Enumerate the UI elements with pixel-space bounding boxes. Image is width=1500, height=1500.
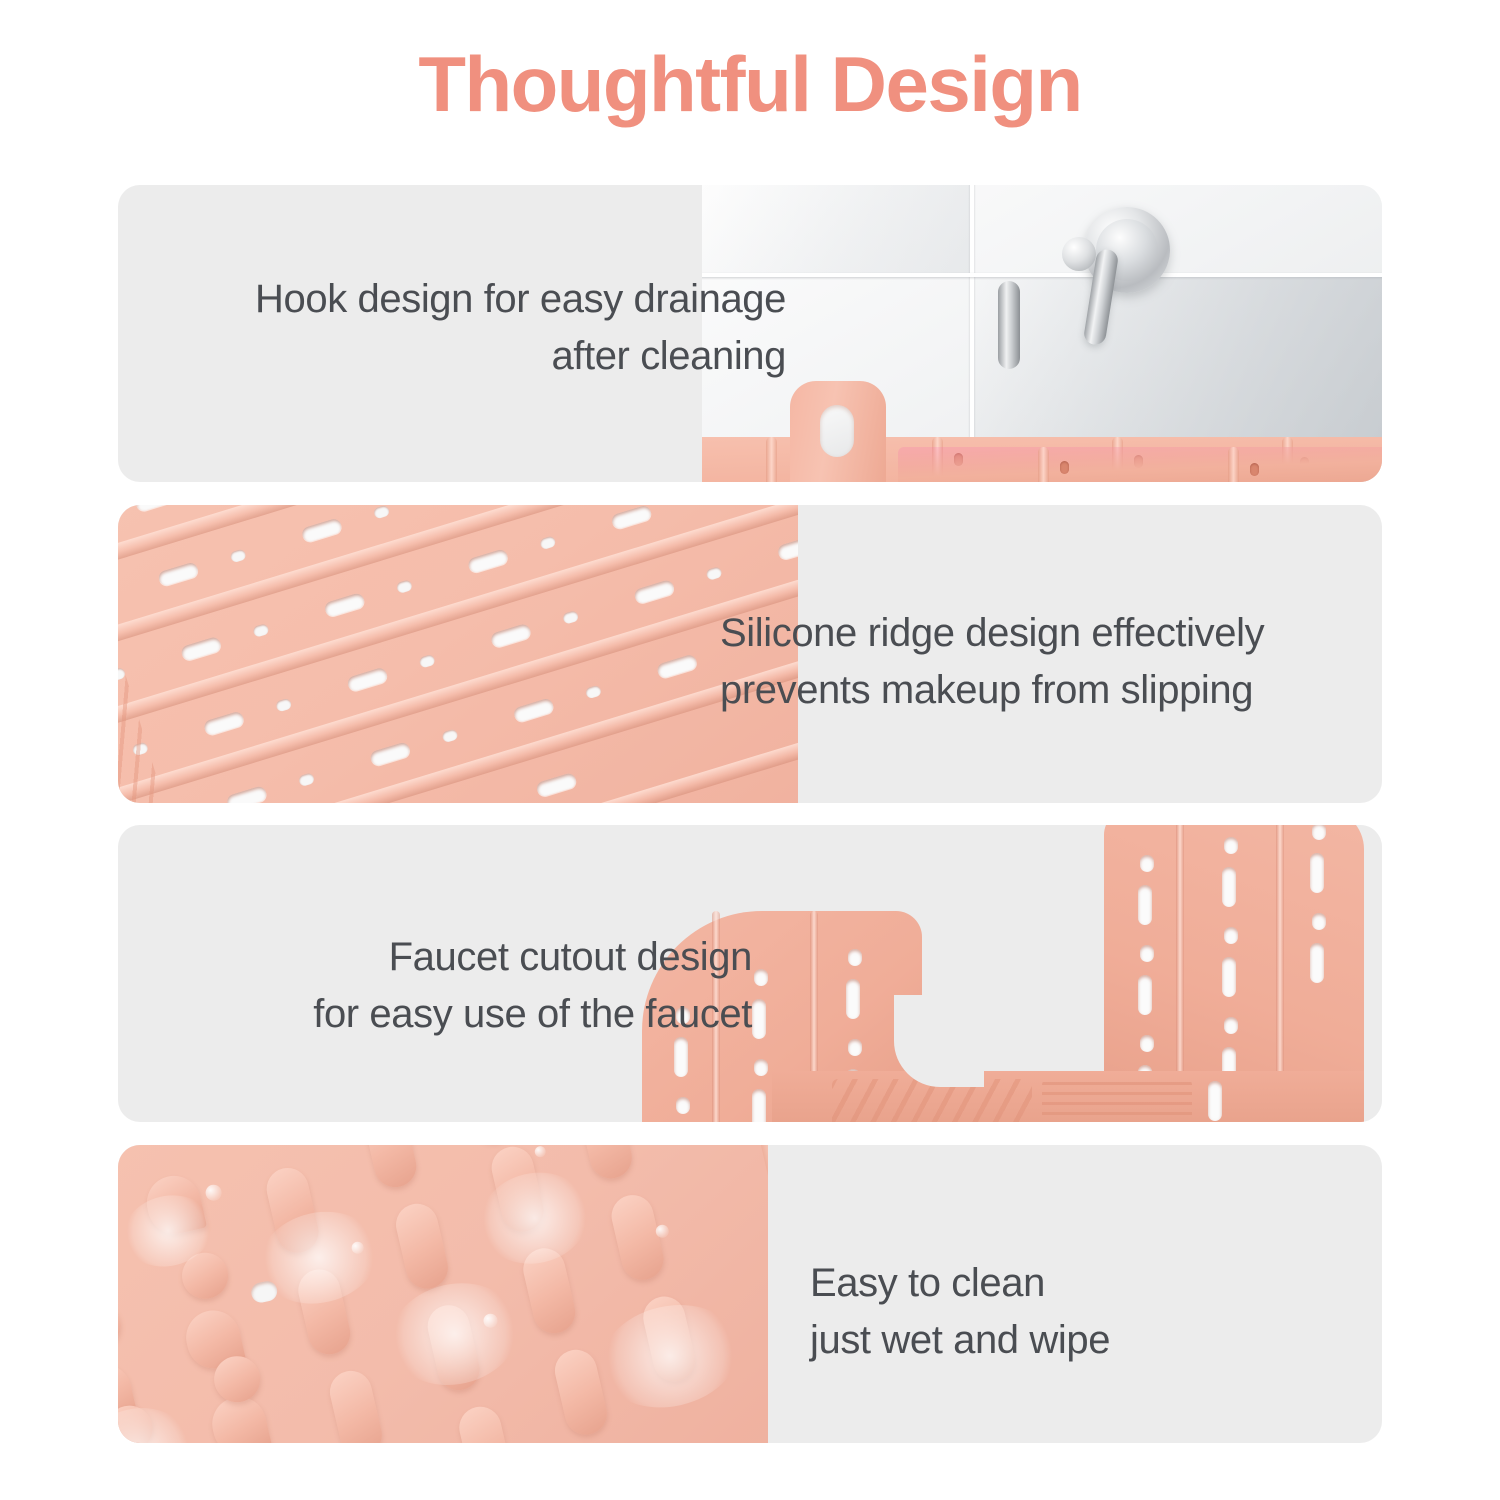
panel-caption-easy-clean: Easy to clean just wet and wipe xyxy=(810,1255,1230,1369)
mat-bottom-bar xyxy=(772,1071,1364,1122)
feature-panel-silicone-ridge: Silicone ridge design effectively preven… xyxy=(118,505,1382,803)
product-photo-silicone-ridge xyxy=(118,505,798,803)
mat-raised-rail xyxy=(719,1145,768,1443)
wall-hook-tip xyxy=(998,281,1020,369)
feature-panel-easy-clean: Easy to clean just wet and wipe xyxy=(118,1145,1382,1443)
mat-hang-hole xyxy=(820,405,854,457)
faucet-cutout xyxy=(894,995,984,1087)
panel-caption-faucet-cutout: Faucet cutout design for easy use of the… xyxy=(152,929,752,1043)
feature-panel-hook-drainage: Hook design for easy drainage after clea… xyxy=(118,185,1382,482)
mat-hanging-tab xyxy=(790,381,886,482)
wet-silicone-surface xyxy=(118,1145,768,1443)
tile-shading xyxy=(702,185,970,273)
panel-caption-silicone-ridge: Silicone ridge design effectively preven… xyxy=(720,605,1360,719)
wave-texture xyxy=(1042,1079,1192,1122)
mat-rear-edge xyxy=(898,447,1382,482)
feature-panel-faucet-cutout: Faucet cutout design for easy use of the… xyxy=(118,825,1382,1122)
wall-hook-knob xyxy=(1062,237,1096,271)
silicone-mat-surface xyxy=(118,505,798,803)
product-photo-easy-clean xyxy=(118,1145,768,1443)
panel-caption-hook-drainage: Hook design for easy drainage after clea… xyxy=(166,271,786,385)
page-title: Thoughtful Design xyxy=(0,42,1500,128)
product-photo-hook-drainage xyxy=(702,185,1382,482)
